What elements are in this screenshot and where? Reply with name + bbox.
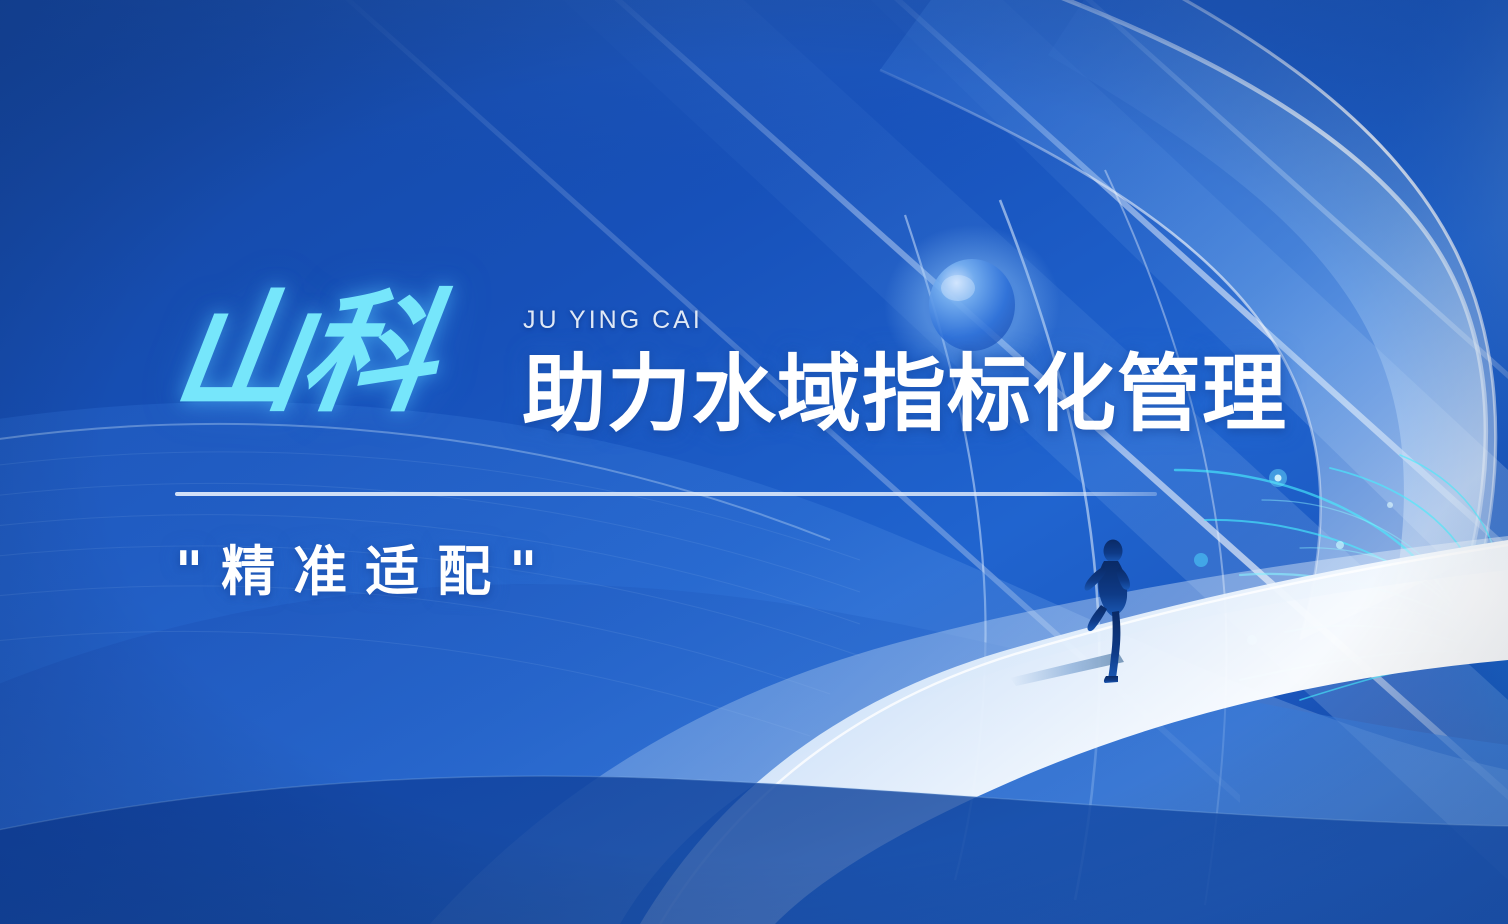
brand-logo-text: 山科 xyxy=(166,288,441,420)
headline-text: 助力水域指标化管理 xyxy=(522,352,1287,436)
banner-text-block: 山科 JU YING CAI 助力水域指标化管理 "精准适配" xyxy=(175,288,1375,463)
divider-line xyxy=(175,492,1157,496)
brand-pinyin-text: JU YING CAI xyxy=(523,306,703,335)
banner-canvas: 山科 JU YING CAI 助力水域指标化管理 "精准适配" xyxy=(0,0,1508,924)
brand-row: 山科 JU YING CAI 助力水域指标化管理 xyxy=(175,288,1375,463)
tagline-text: "精准适配" xyxy=(175,540,555,604)
